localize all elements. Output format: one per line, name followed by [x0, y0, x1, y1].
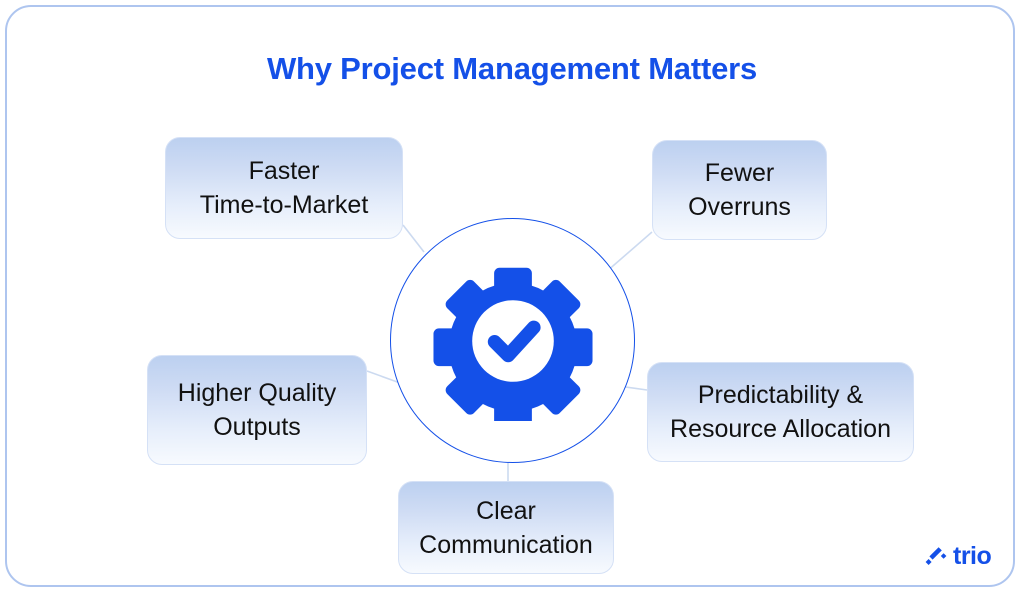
benefit-node-label: Fewer Overruns — [688, 156, 791, 224]
central-hub-circle — [390, 218, 635, 463]
trio-logo-mark — [925, 546, 947, 566]
benefit-node-label: Faster Time-to-Market — [200, 154, 369, 222]
benefit-node-higher-quality-outputs[interactable]: Higher Quality Outputs — [147, 355, 367, 465]
benefit-node-label: Predictability & Resource Allocation — [670, 378, 891, 446]
benefit-node-label: Clear Communication — [419, 494, 593, 562]
page-title: Why Project Management Matters — [0, 48, 1024, 90]
trio-logo-text: trio — [953, 543, 991, 569]
benefit-node-clear-communication[interactable]: Clear Communication — [398, 481, 614, 574]
benefit-node-predictability-resource-allocation[interactable]: Predictability & Resource Allocation — [647, 362, 914, 462]
benefit-node-faster-time-to-market[interactable]: Faster Time-to-Market — [165, 137, 403, 239]
benefit-node-label: Higher Quality Outputs — [178, 376, 336, 444]
benefit-node-fewer-overruns[interactable]: Fewer Overruns — [652, 140, 827, 240]
gear-check-icon — [433, 261, 593, 421]
trio-logo[interactable]: trio — [925, 542, 991, 570]
infographic-canvas: Why Project Management Matters Faster Ti… — [0, 0, 1024, 596]
